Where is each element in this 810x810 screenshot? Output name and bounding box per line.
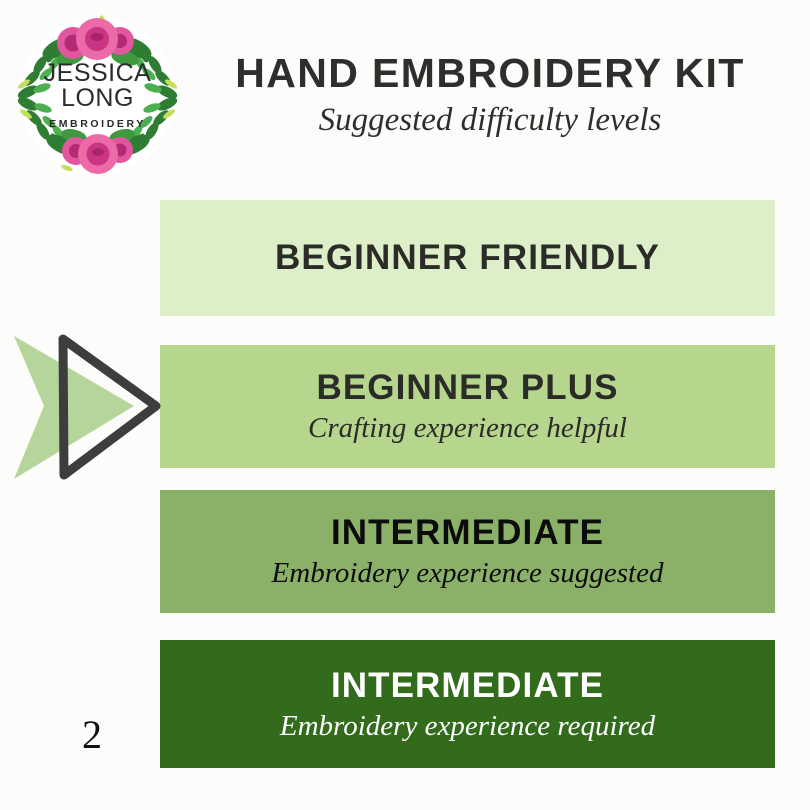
floral-wreath-icon [10, 8, 185, 183]
difficulty-level-subtitle: Crafting experience helpful [308, 410, 627, 446]
difficulty-level-subtitle: Embroidery experience suggested [272, 555, 664, 591]
arrow-fill-shape [14, 336, 134, 479]
difficulty-level-title: BEGINNER FRIENDLY [275, 237, 660, 279]
difficulty-level-bar[interactable]: INTERMEDIATEEmbroidery experience sugges… [160, 490, 775, 613]
selected-level-arrow: 2 [8, 330, 168, 485]
infographic-canvas: JESSICA LONG EMBROIDERY HAND EMBROIDERY … [0, 0, 810, 810]
difficulty-level-title: INTERMEDIATE [331, 512, 604, 554]
header: HAND EMBROIDERY KIT Suggested difficulty… [190, 50, 790, 140]
difficulty-level-bar[interactable]: BEGINNER FRIENDLY [160, 200, 775, 316]
difficulty-level-subtitle: Embroidery experience required [280, 708, 655, 744]
difficulty-level-title: INTERMEDIATE [331, 665, 604, 707]
arrow-level-number: 2 [70, 712, 114, 758]
page-subtitle: Suggested difficulty levels [190, 100, 790, 140]
difficulty-level-list: BEGINNER FRIENDLYBEGINNER PLUSCrafting e… [160, 200, 775, 768]
difficulty-level-bar[interactable]: INTERMEDIATEEmbroidery experience requir… [160, 640, 775, 768]
difficulty-level-bar[interactable]: BEGINNER PLUSCrafting experience helpful [160, 345, 775, 468]
difficulty-level-title: BEGINNER PLUS [316, 367, 618, 409]
arrow-right-icon [8, 330, 168, 485]
brand-logo: JESSICA LONG EMBROIDERY [10, 8, 185, 183]
page-title: HAND EMBROIDERY KIT [190, 50, 790, 96]
